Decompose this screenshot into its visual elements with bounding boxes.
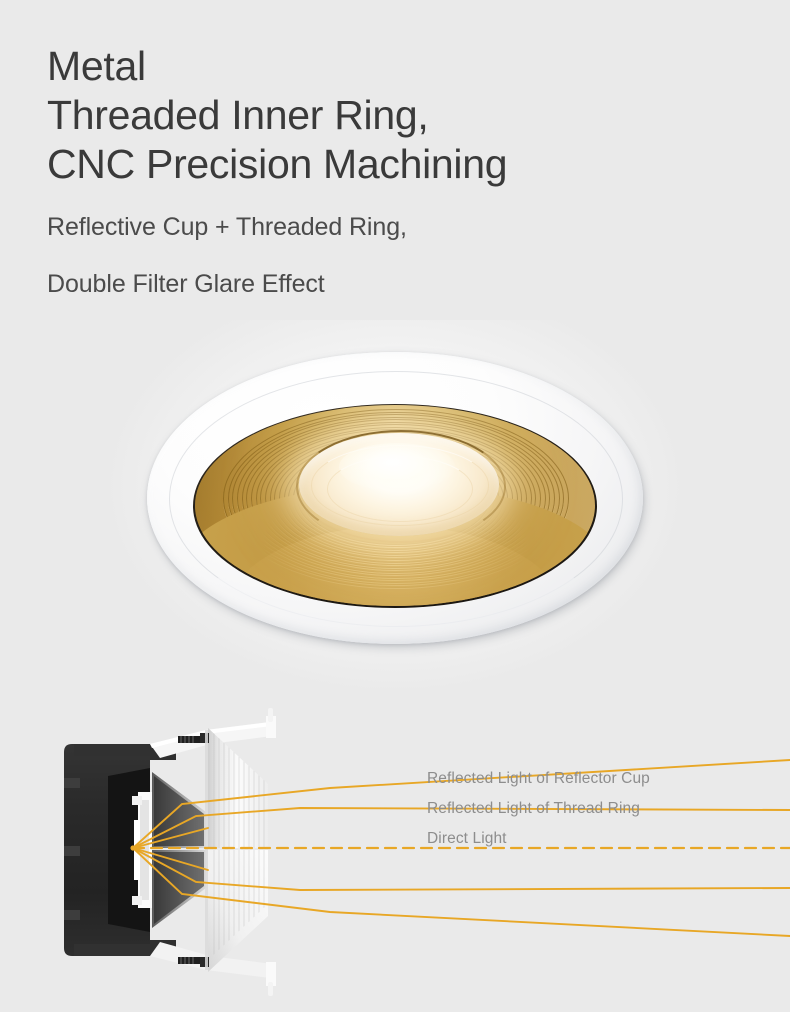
lens-hotspot xyxy=(339,443,455,490)
ray-label-direct-light: Direct Light xyxy=(427,824,757,854)
page-title-line-3: CNC Precision Machining xyxy=(47,140,747,189)
ray-label-reflector-cup: Reflected Light of Reflector Cup xyxy=(427,764,757,794)
gold-reflector-cup xyxy=(195,405,595,606)
white-outer-bezel xyxy=(147,352,643,644)
light-source-point xyxy=(130,845,135,850)
led-lens-glow xyxy=(299,433,499,536)
feature-text-block: Metal Threaded Inner Ring, CNC Precision… xyxy=(47,42,747,303)
product-photo xyxy=(0,300,790,700)
page-title-line-2: Threaded Inner Ring, xyxy=(47,91,747,140)
page-title-line-1: Metal xyxy=(47,42,747,91)
ray-label-list: Reflected Light of Reflector Cup Reflect… xyxy=(427,764,757,854)
ray-label-thread-ring: Reflected Light of Thread Ring xyxy=(427,794,757,824)
page-subtitle-line-2: Double Filter Glare Effect xyxy=(47,246,747,303)
page-subtitle-line-1: Reflective Cup + Threaded Ring, xyxy=(47,189,747,246)
